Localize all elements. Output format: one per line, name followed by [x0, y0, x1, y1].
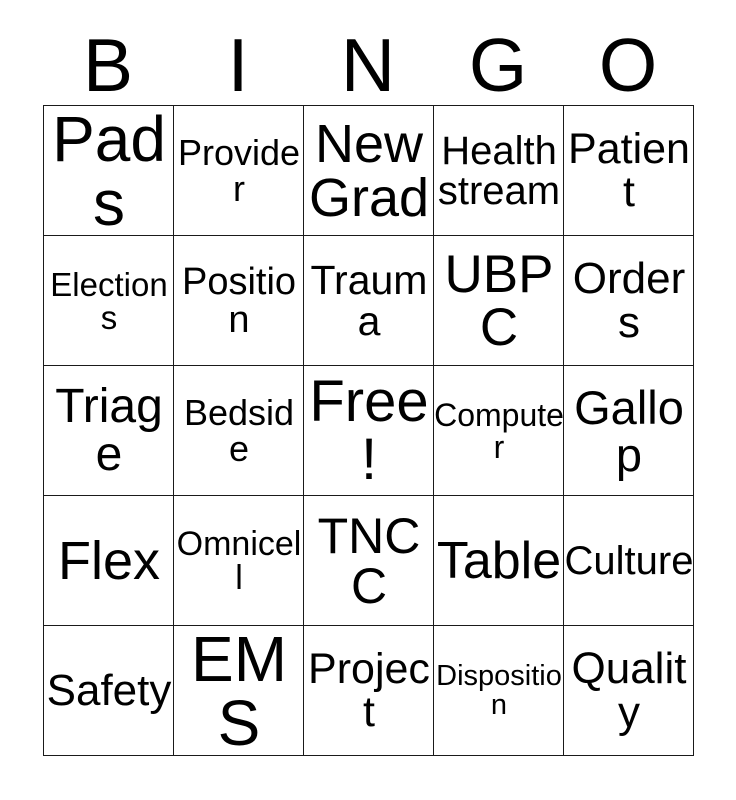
bingo-cell-label: Disposition [434, 626, 564, 756]
bingo-cell-label: Pads [44, 106, 174, 236]
header-letter-b: B [43, 26, 173, 105]
bingo-cell-label: Elections [44, 236, 174, 366]
bingo-cell-n2[interactable]: Trauma [304, 236, 434, 366]
bingo-cell-label: Flex [44, 496, 174, 626]
bingo-cell-label: Table [434, 496, 564, 626]
free-space-label: Free! [304, 366, 434, 496]
bingo-cell-label: Computer [434, 366, 564, 496]
bingo-cell-o5[interactable]: Quality [564, 626, 694, 756]
bingo-row: Pads Provider New Grad Healthstream Pati… [44, 106, 694, 236]
bingo-cell-o2[interactable]: Orders [564, 236, 694, 366]
bingo-cell-label: Position [174, 236, 304, 366]
bingo-cell-i5[interactable]: EMS [174, 626, 304, 756]
header-letter-i: I [173, 26, 303, 105]
bingo-cell-label: Orders [564, 236, 694, 366]
bingo-cell-label: Omnicell [174, 496, 304, 626]
bingo-header: B I N G O [43, 26, 693, 105]
bingo-cell-g4[interactable]: Table [434, 496, 564, 626]
bingo-cell-g2[interactable]: UBPC [434, 236, 564, 366]
bingo-cell-i3[interactable]: Bedside [174, 366, 304, 496]
bingo-cell-i1[interactable]: Provider [174, 106, 304, 236]
bingo-row: Safety EMS Project Disposition Quality [44, 626, 694, 756]
bingo-cell-label: EMS [174, 626, 304, 756]
bingo-card: B I N G O Pads Provider New Grad Healths… [0, 0, 736, 800]
bingo-cell-b1[interactable]: Pads [44, 106, 174, 236]
bingo-row: Flex Omnicell TNCC Table Culture [44, 496, 694, 626]
bingo-cell-g3[interactable]: Computer [434, 366, 564, 496]
bingo-row: Elections Position Trauma UBPC Orders [44, 236, 694, 366]
bingo-cell-g1[interactable]: Healthstream [434, 106, 564, 236]
bingo-cell-label: Healthstream [434, 106, 564, 236]
bingo-cell-n4[interactable]: TNCC [304, 496, 434, 626]
bingo-cell-o1[interactable]: Patient [564, 106, 694, 236]
bingo-cell-i4[interactable]: Omnicell [174, 496, 304, 626]
bingo-cell-label: Quality [564, 626, 694, 756]
bingo-cell-label: Gallop [564, 366, 694, 496]
bingo-cell-label: Safety [44, 626, 174, 756]
bingo-cell-b4[interactable]: Flex [44, 496, 174, 626]
bingo-cell-n1[interactable]: New Grad [304, 106, 434, 236]
header-letter-n: N [303, 26, 433, 105]
bingo-cell-label: Provider [174, 106, 304, 236]
bingo-cell-label: New Grad [304, 106, 434, 236]
bingo-cell-b2[interactable]: Elections [44, 236, 174, 366]
bingo-cell-label: Trauma [304, 236, 434, 366]
bingo-cell-b5[interactable]: Safety [44, 626, 174, 756]
bingo-cell-g5[interactable]: Disposition [434, 626, 564, 756]
bingo-row: Triage Bedside Free! Computer Gallop [44, 366, 694, 496]
bingo-cell-o3[interactable]: Gallop [564, 366, 694, 496]
bingo-cell-b3[interactable]: Triage [44, 366, 174, 496]
header-letter-o: O [563, 26, 693, 105]
bingo-cell-label: Patient [564, 106, 694, 236]
bingo-cell-label: TNCC [304, 496, 434, 626]
bingo-grid: Pads Provider New Grad Healthstream Pati… [43, 105, 694, 756]
bingo-cell-i2[interactable]: Position [174, 236, 304, 366]
bingo-cell-label: Project [304, 626, 434, 756]
header-letter-g: G [433, 26, 563, 105]
bingo-cell-o4[interactable]: Culture [564, 496, 694, 626]
bingo-cell-free-space[interactable]: Free! [304, 366, 434, 496]
bingo-cell-label: Bedside [174, 366, 304, 496]
bingo-cell-label: UBPC [434, 236, 564, 366]
bingo-cell-label: Culture [564, 496, 694, 626]
bingo-cell-n5[interactable]: Project [304, 626, 434, 756]
bingo-cell-label: Triage [44, 366, 174, 496]
